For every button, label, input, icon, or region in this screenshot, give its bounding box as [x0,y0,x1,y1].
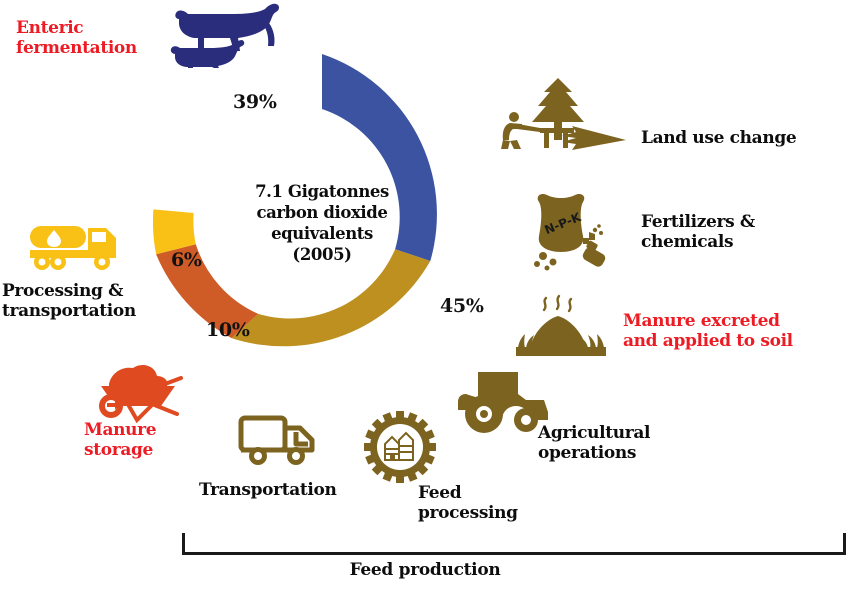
manure-pile-icon [516,296,606,358]
feed-production-bracket [182,533,846,555]
tree-felling-icon [500,78,626,150]
callout-fertilizers-line-2: chemicals [641,232,841,252]
center-line-3: equivalents [222,223,422,244]
delivery-truck-icon [238,414,318,472]
callout-feed-processing-line-2: processing [418,503,558,523]
donut-label-processing-percent: 6% [171,249,202,271]
feed-production-label: Feed production [0,560,850,580]
callout-processing-line-2: transportation [2,301,202,321]
callout-manure-storage-line-1: Manure [84,420,224,440]
center-line-1: 7.1 Gigatonnes [222,181,422,202]
donut-center-total: 7.1 Gigatonnes carbon dioxide equivalent… [222,181,422,265]
callout-agricultural-operations: Agricultural operations [538,423,728,463]
callout-manure-storage: Manure storage [84,420,224,460]
callout-feed-processing: Feed processing [418,483,558,523]
callout-manure-excreted: Manure excreted and applied to soil [623,311,850,351]
callout-transportation-line-1: Transportation [199,480,379,500]
center-line-2: carbon dioxide [222,202,422,223]
infographic-canvas: 39% 45% 10% 6% 7.1 Gigatonnes carbon dio… [0,0,850,589]
callout-enteric-line-1: Enteric [16,18,186,38]
callout-manure-storage-line-2: storage [84,440,224,460]
tanker-truck-icon [28,222,124,272]
callout-transportation: Transportation [199,480,379,500]
center-line-4: (2005) [222,244,422,265]
callout-manure-excreted-line-2: and applied to soil [623,331,850,351]
callout-land-use-change: Land use change [641,128,841,148]
callout-agri-ops-line-1: Agricultural [538,423,728,443]
callout-land-use-line-1: Land use change [641,128,841,148]
tractor-icon [456,370,548,434]
callout-fertilizers-line-1: Fertilizers & [641,212,841,232]
wheelbarrow-icon [89,362,185,424]
callout-feed-processing-line-1: Feed [418,483,558,503]
donut-label-manure-percent: 10% [206,319,250,341]
callout-enteric-fermentation: Enteric fermentation [16,18,186,58]
callout-processing-transportation: Processing & transportation [2,281,202,321]
donut-label-enteric-percent: 39% [233,91,277,113]
callout-enteric-line-2: fermentation [16,38,186,58]
emissions-donut-chart: 39% 45% 10% 6% 7.1 Gigatonnes carbon dio… [153,54,491,392]
gear-silo-icon [365,412,435,482]
donut-label-feed-percent: 45% [440,295,484,317]
fertilizer-sack-icon: N-P-K [527,192,607,270]
callout-processing-line-1: Processing & [2,281,202,301]
callout-fertilizers-chemicals: Fertilizers & chemicals [641,212,841,252]
callout-agri-ops-line-2: operations [538,443,728,463]
callout-manure-excreted-line-1: Manure excreted [623,311,850,331]
